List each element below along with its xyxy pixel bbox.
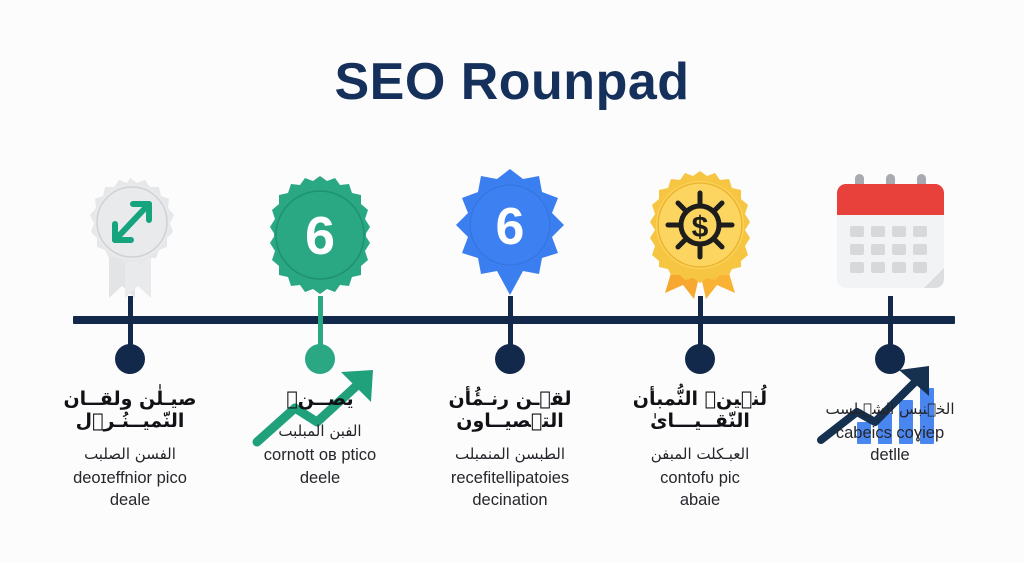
step-subtitle-line2: decination (410, 489, 610, 511)
badge-number: 6 (496, 198, 525, 256)
step-subtitle-line1: deoɪeffnior pico (30, 468, 230, 489)
step-subtitle-arabic: الفبن المبلبٮ (220, 422, 420, 441)
calendar-icon[interactable] (795, 170, 985, 300)
step-dot[interactable] (685, 344, 715, 374)
step-subtitle-arabic: الفسن الصلبٮ (30, 445, 230, 464)
step-dot[interactable] (305, 344, 335, 374)
step-heading: لقٖـن رنـمُٔأن التٖصيــاون (410, 388, 610, 433)
step-subtitle-line2: deale (30, 489, 230, 511)
timeline-step-3[interactable]: 6 لقٖـن رنـمُٔأن التٖصيــاون الطبسن المن… (415, 0, 605, 563)
step-subtitle-line1: recefitellipatoies (410, 468, 610, 489)
step-dot[interactable] (115, 344, 145, 374)
step-heading: صيـلٰن ولقــان النّميــنُـرٖل (30, 388, 230, 433)
badge-number: 6 (305, 206, 335, 266)
step-subtitle-arabic: العبـكلت المبفن (600, 445, 800, 464)
timeline-step-1[interactable]: صيـلٰن ولقــان النّميــنُـرٖل الفسن الصل… (35, 0, 225, 563)
pin-number-badge[interactable]: 6 (415, 170, 605, 300)
step-text-block: لُنٖينٖ النُّمبأن النّقــيـــاىٰ العبـكل… (600, 388, 800, 511)
step-text-block: صيـلٰن ولقــان النّميــنُـرٖل الفسن الصل… (30, 388, 230, 511)
timeline-step-2[interactable]: 6 يصــنٖ الفبن المبلبٮ cornott oʙ ptico … (225, 0, 415, 563)
step-text-block: لقٖـن رنـمُٔأن التٖصيــاون الطبسن المنمب… (410, 388, 610, 511)
step-subtitle-line1: cabeics coɣiep (790, 423, 990, 444)
step-subtitle-line1: cornott oʙ ptico (220, 445, 420, 466)
step-subtitle-arabic: الطبسن المنمبلٮ (410, 445, 610, 464)
rosette-dollar-badge[interactable]: $ (605, 170, 795, 300)
step-heading: لُنٖينٖ النُّمبأن النّقــيـــاىٰ (600, 388, 800, 433)
step-dot[interactable] (495, 344, 525, 374)
step-subtitle-line2: deele (220, 467, 420, 489)
rosette-arrow-badge[interactable] (35, 170, 225, 300)
timeline-step-4[interactable]: $ لُنٖينٖ النُّمبأن النّقــيـــاىٰ العبـ… (605, 0, 795, 563)
step-text-block: يصــنٖ الفبن المبلبٮ cornott oʙ ptico de… (220, 388, 420, 489)
step-subtitle-arabic: الخٖنبس الشٖبلسٮ (790, 400, 990, 419)
step-text-block: الخٖنبس الشٖبلسٮ cabeics coɣiep detlle (790, 388, 990, 466)
step-dot[interactable] (875, 344, 905, 374)
step-heading: يصــنٖ (220, 388, 420, 410)
step-subtitle-line1: contofʋ pic (600, 468, 800, 489)
timeline-step-5[interactable]: الخٖنبس الشٖبلسٮ cabeics coɣiep detlle (795, 0, 985, 563)
step-subtitle-line2: detlle (790, 444, 990, 466)
step-subtitle-line2: abaie (600, 489, 800, 511)
rosette-number-badge[interactable]: 6 (225, 170, 415, 300)
infographic-canvas: SEO Rounpad (0, 0, 1024, 563)
rosette-ribbons (109, 258, 151, 298)
dollar-sign: $ (692, 211, 709, 244)
